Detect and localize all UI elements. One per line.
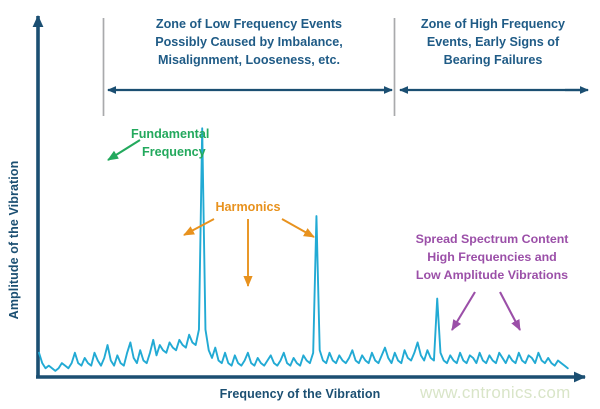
fundamental-label-line-2: Frequency [142,145,206,159]
harmonics-arrow-left [184,219,214,235]
zone-low-line-2: Possibly Caused by Imbalance, [155,35,343,49]
spread-label-line-2: High Frequencies and [427,250,556,264]
fundamental-label-line-1: Fundamental [131,127,209,141]
harmonics-arrow-right [282,219,314,237]
harmonics-label: Harmonics [215,200,280,214]
annotation-fundamental-frequency: Fundamental Frequency [108,127,209,160]
vibration-spectrum-figure: Zone of Low Frequency Events Possibly Ca… [0,0,600,409]
zone-label-low-frequency: Zone of Low Frequency Events Possibly Ca… [155,17,343,67]
x-axis-label: Frequency of the Vibration [220,387,381,401]
spread-arrow-left [452,292,475,330]
zone-label-high-frequency: Zone of High Frequency Events, Early Sig… [421,17,565,67]
zone-low-line-1: Zone of Low Frequency Events [156,17,342,31]
watermark-text: www.cntronics.com [419,383,571,402]
y-axis-label: Amplitude of the Vibration [7,161,21,320]
spectrum-chart-svg: Zone of Low Frequency Events Possibly Ca… [0,0,600,409]
spread-label-line-1: Spread Spectrum Content [416,232,569,246]
chart-axes [36,16,585,378]
spread-arrow-right [500,292,520,330]
spread-label-line-3: Low Amplitude Vibrations [416,268,568,282]
zone-dividers [104,18,395,116]
zone-high-line-2: Events, Early Signs of [427,35,560,49]
zone-high-line-3: Bearing Failures [444,53,543,67]
zone-low-line-3: Misalignment, Looseness, etc. [158,53,340,67]
fundamental-arrow [108,140,140,160]
zone-high-line-1: Zone of High Frequency [421,17,565,31]
